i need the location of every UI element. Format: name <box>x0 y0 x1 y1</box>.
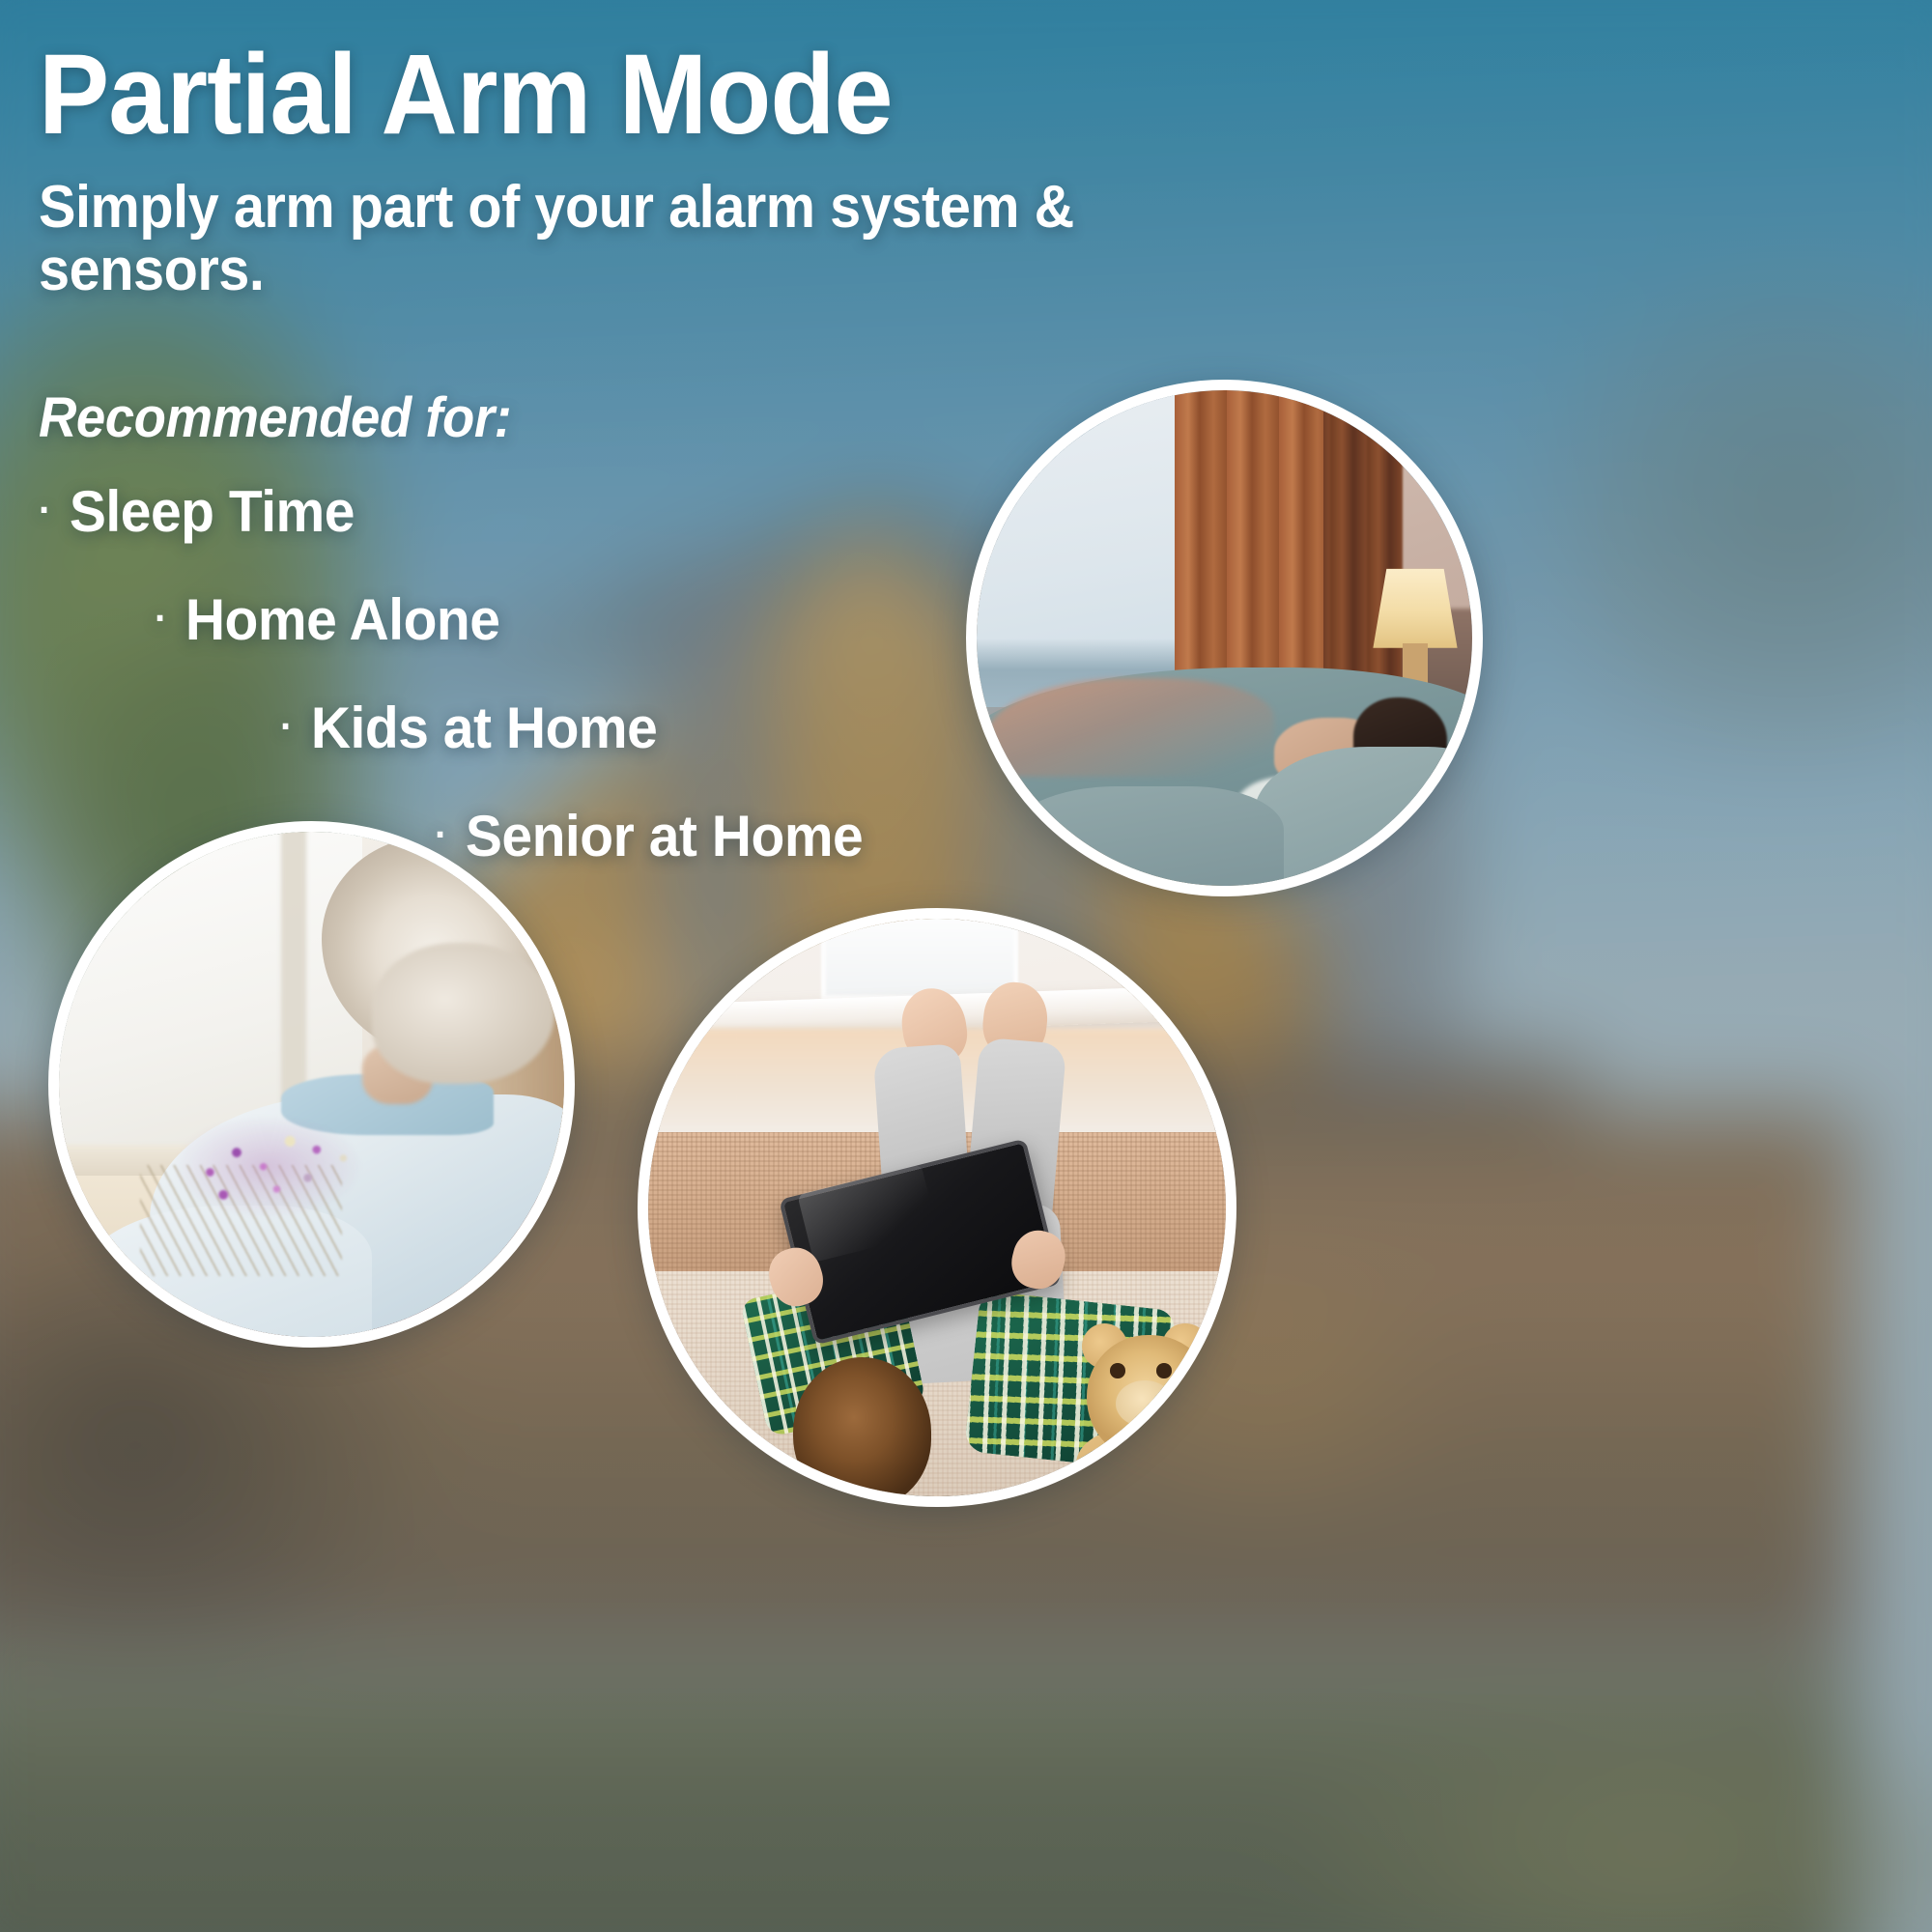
photo-circle-sleep-time <box>966 380 1483 896</box>
window <box>821 919 1017 1000</box>
page-title: Partial Arm Mode <box>39 37 1278 153</box>
bullet-icon: · <box>39 490 51 530</box>
list-item-label: Sleep Time <box>70 483 355 541</box>
photo-inner-senior <box>59 832 564 1337</box>
list-item-label: Kids at Home <box>311 699 658 757</box>
teddy-bear-eye-left <box>1110 1363 1125 1378</box>
senior-hair-shadow <box>372 943 554 1084</box>
pillow-right <box>1254 747 1472 886</box>
child-head <box>793 1357 932 1496</box>
photo-circle-senior-at-home <box>48 821 575 1348</box>
teddy-bear-eye-right <box>1156 1363 1172 1378</box>
bullet-icon: · <box>280 706 293 747</box>
lamp-shade <box>1373 569 1457 648</box>
photo-inner-sleep <box>977 390 1472 886</box>
list-item-label: Home Alone <box>185 591 500 649</box>
bullet-icon: · <box>155 598 167 639</box>
photo-inner-kid <box>648 919 1226 1496</box>
purple-flower-bouquet <box>170 1085 392 1226</box>
photo-circle-kids-at-home <box>638 908 1236 1507</box>
pillow-left <box>1007 786 1284 886</box>
page-subtitle: Simply arm part of your alarm system & s… <box>39 176 1278 301</box>
teddy-bear-snout <box>1116 1380 1174 1427</box>
